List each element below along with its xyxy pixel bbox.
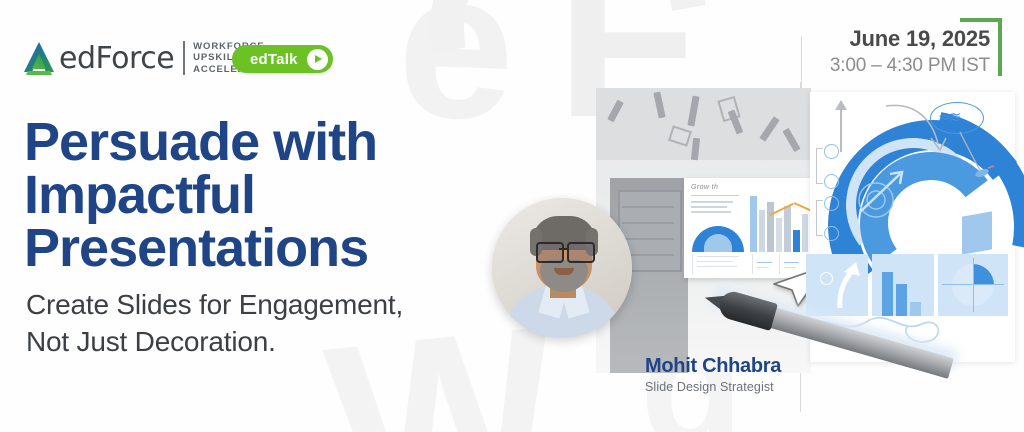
slide-text-line [691, 206, 727, 208]
page-title: Persuade with Impactful Presentations [24, 116, 494, 275]
idea-arrow-tile [806, 254, 868, 316]
logo-divider [183, 41, 185, 75]
webinar-banner: e F W d edForce WORKFORCE [0, 0, 1024, 432]
pointer-line-icon [950, 130, 996, 180]
slide-bar [759, 210, 765, 252]
edforce-logo-mark-icon [22, 40, 56, 76]
slide-bar [776, 218, 782, 252]
slide-bar [750, 196, 757, 252]
portrait-glasses-bridge [559, 248, 568, 250]
bracket-icon [816, 148, 823, 184]
arrow-up-icon [834, 100, 850, 114]
mini-circle-icon [824, 226, 839, 241]
slide-text-line [691, 201, 733, 203]
subhead-line-1: Create Slides for Engagement, [26, 286, 506, 323]
edtalk-badge-label: edTalk [250, 51, 298, 68]
target-arrow-icon [854, 168, 910, 218]
subhead-line-2: Not Just Decoration. [26, 323, 506, 360]
speaker-caption: Mohit Chhabra Slide Design Strategist [645, 355, 781, 394]
play-icon[interactable] [307, 49, 328, 70]
pie-slice [973, 264, 994, 285]
wall-upper-band [596, 88, 811, 160]
slide-underline [691, 195, 739, 196]
pie-crosshair [973, 258, 974, 312]
portrait-glasses-left [536, 242, 564, 263]
speaker-name: Mohit Chhabra [645, 355, 781, 378]
bubble-scribble-icon: ≈≋ [938, 108, 959, 126]
portrait-glasses-right [567, 242, 595, 263]
slide-bar [793, 230, 800, 252]
speaker-role: Slide Design Strategist [645, 380, 781, 394]
slide-bar [767, 202, 774, 252]
headline-line-2: Impactful [24, 169, 494, 222]
slide-footer-block [692, 254, 747, 274]
up-arrow-icon [834, 260, 864, 310]
pie-chart-tile [938, 254, 1008, 316]
page-subtitle: Create Slides for Engagement, Not Just D… [26, 286, 506, 360]
mini-circle-icon [824, 196, 839, 211]
bar-chart-tile [872, 254, 934, 316]
headline-line-3: Presentations [24, 222, 494, 275]
mini-circle-icon [824, 174, 839, 189]
slide-bar [784, 206, 791, 252]
avatar [492, 198, 632, 338]
lightbulb-icon [820, 272, 833, 285]
slide-title: Grow th [691, 184, 718, 191]
bracket-icon [816, 200, 823, 236]
mini-circle-icon [824, 144, 839, 159]
edforce-logo-text: edForce [59, 41, 174, 76]
slide-text-line [691, 211, 731, 213]
edtalk-badge[interactable]: edTalk [232, 45, 333, 73]
wedge-shape [962, 211, 992, 254]
headline-line-1: Persuade with [24, 116, 494, 169]
